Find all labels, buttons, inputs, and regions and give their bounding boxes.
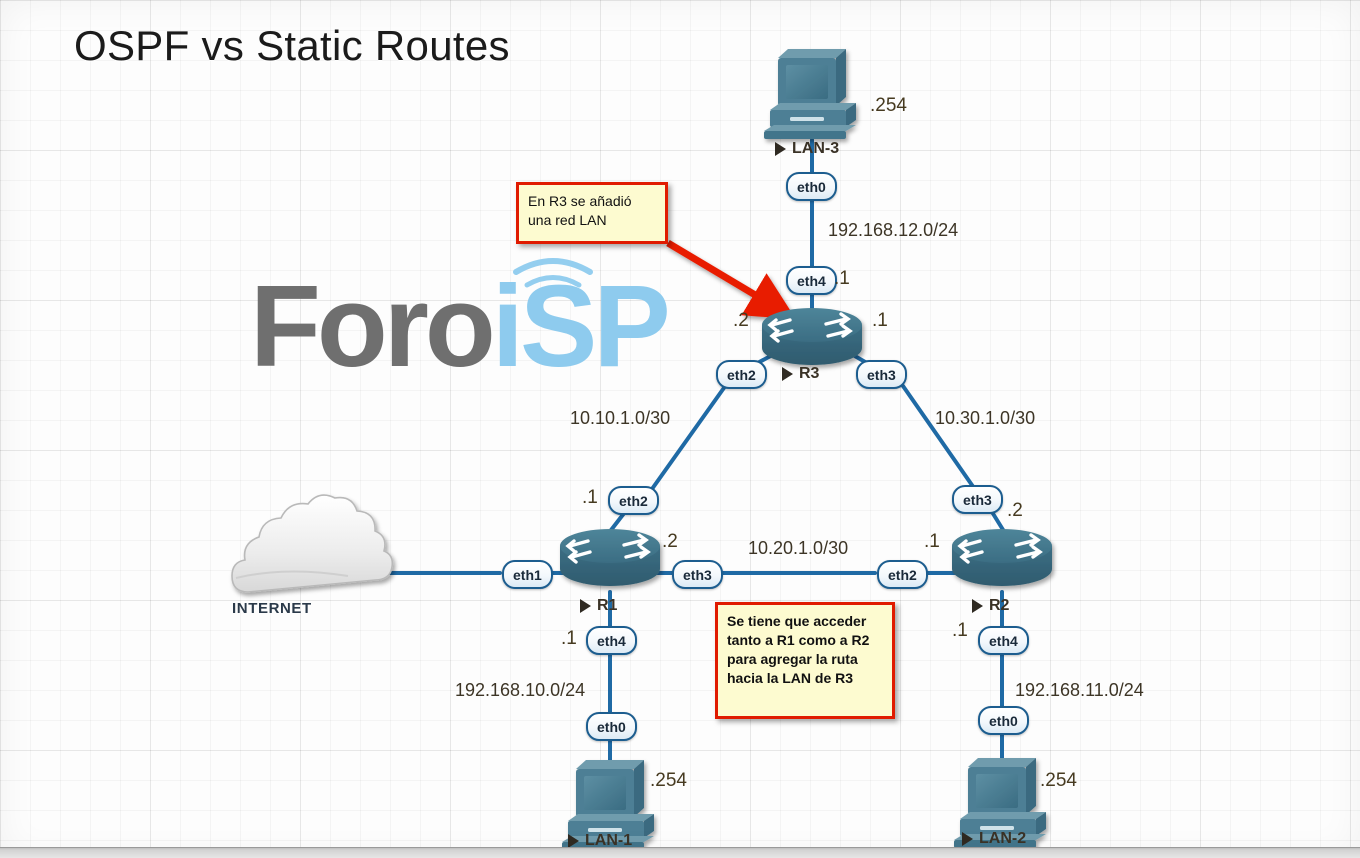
interface-badge-r3-eth0[interactable]: eth0 — [786, 172, 837, 201]
node-label-text: R2 — [989, 597, 1009, 615]
octet-r3-eth2: .2 — [733, 310, 749, 332]
interface-label: eth4 — [989, 633, 1018, 649]
callout-static-routes[interactable]: Se tiene que acceder tanto a R1 como a R… — [715, 602, 895, 719]
interface-label: eth0 — [797, 179, 826, 195]
node-label-text: R3 — [799, 365, 819, 383]
internet-cloud-icon — [232, 495, 392, 592]
interface-badge-r3-eth2[interactable]: eth2 — [716, 360, 767, 389]
play-triangle-icon — [568, 834, 579, 848]
interface-badge-r2-eth2[interactable]: eth2 — [877, 560, 928, 589]
interface-label: eth3 — [963, 492, 992, 508]
interface-label: eth1 — [513, 567, 542, 583]
link-layer — [0, 0, 1360, 858]
router-r3-icon — [762, 308, 862, 365]
node-label-r1: R1 — [580, 597, 617, 615]
play-triangle-icon — [972, 599, 983, 613]
node-label-lan2: LAN-2 — [962, 830, 1026, 848]
interface-badge-r2-eth3[interactable]: eth3 — [952, 485, 1003, 514]
foroisp-watermark: ForoiSP — [250, 268, 667, 384]
bottom-edge-strip — [0, 847, 1360, 858]
play-triangle-icon — [962, 832, 973, 846]
play-triangle-icon — [580, 599, 591, 613]
watermark-foro: Foro — [250, 261, 492, 391]
octet-r2-eth3: .2 — [1007, 500, 1023, 522]
network-label-lan2: 192.168.11.0/24 — [1015, 680, 1144, 701]
network-label-lan3: 192.168.12.0/24 — [828, 220, 958, 241]
interface-label: eth3 — [683, 567, 712, 583]
interface-badge-r1-eth2[interactable]: eth2 — [608, 486, 659, 515]
node-label-text: R1 — [597, 597, 617, 615]
node-label-internet: INTERNET — [232, 600, 312, 617]
watermark-isp: iSP — [492, 261, 667, 391]
octet-r3-eth3: .1 — [872, 310, 888, 332]
node-label-lan3: LAN-3 — [775, 140, 839, 158]
callout-r3-lan-text: En R3 se añadió una red LAN — [528, 193, 632, 228]
node-label-r3: R3 — [782, 365, 819, 383]
network-label-r3-r1: 10.10.1.0/30 — [570, 408, 670, 429]
interface-badge-lan2-eth0[interactable]: eth0 — [978, 706, 1029, 735]
callout-arrow — [668, 243, 772, 305]
interface-label: eth3 — [867, 367, 896, 383]
octet-r2-eth2: .1 — [924, 531, 940, 553]
network-label-r1-r2: 10.20.1.0/30 — [748, 538, 848, 559]
octet-lan1: .254 — [650, 770, 687, 792]
interface-badge-lan1-eth0[interactable]: eth0 — [586, 712, 637, 741]
play-triangle-icon — [775, 142, 786, 156]
interface-label: eth0 — [597, 719, 626, 735]
page-title: OSPF vs Static Routes — [74, 22, 510, 70]
octet-r1-eth2: .1 — [582, 487, 598, 509]
node-label-text: LAN-3 — [792, 140, 839, 158]
pc-lan3-icon — [764, 49, 856, 139]
interface-badge-r1-eth1[interactable]: eth1 — [502, 560, 553, 589]
router-r2-icon — [952, 529, 1052, 586]
interface-badge-r1-eth4[interactable]: eth4 — [586, 626, 637, 655]
interface-badge-r3-eth4[interactable]: eth4 — [786, 266, 837, 295]
interface-label: eth4 — [597, 633, 626, 649]
interface-badge-r3-eth3[interactable]: eth3 — [856, 360, 907, 389]
interface-label: eth2 — [619, 493, 648, 509]
octet-lan2: .254 — [1040, 770, 1077, 792]
callout-r3-lan[interactable]: En R3 se añadió una red LAN — [516, 182, 668, 244]
interface-label: eth2 — [727, 367, 756, 383]
octet-r1-eth4: .1 — [561, 628, 577, 650]
interface-label: eth4 — [797, 273, 826, 289]
octet-r3-eth4: .1 — [834, 268, 850, 290]
interface-label: eth2 — [888, 567, 917, 583]
node-label-text: LAN-2 — [979, 830, 1026, 848]
node-label-r2: R2 — [972, 597, 1009, 615]
octet-r1-eth3: .2 — [662, 531, 678, 553]
interface-badge-r2-eth4[interactable]: eth4 — [978, 626, 1029, 655]
interface-badge-r1-eth3[interactable]: eth3 — [672, 560, 723, 589]
octet-lan3: .254 — [870, 95, 907, 117]
callout-static-routes-text: Se tiene que acceder tanto a R1 como a R… — [727, 613, 869, 686]
interface-label: eth0 — [989, 713, 1018, 729]
play-triangle-icon — [782, 367, 793, 381]
network-label-r3-r2: 10.30.1.0/30 — [935, 408, 1035, 429]
octet-r2-eth4: .1 — [952, 620, 968, 642]
router-r1-icon — [560, 529, 660, 586]
network-label-lan1: 192.168.10.0/24 — [455, 680, 585, 701]
